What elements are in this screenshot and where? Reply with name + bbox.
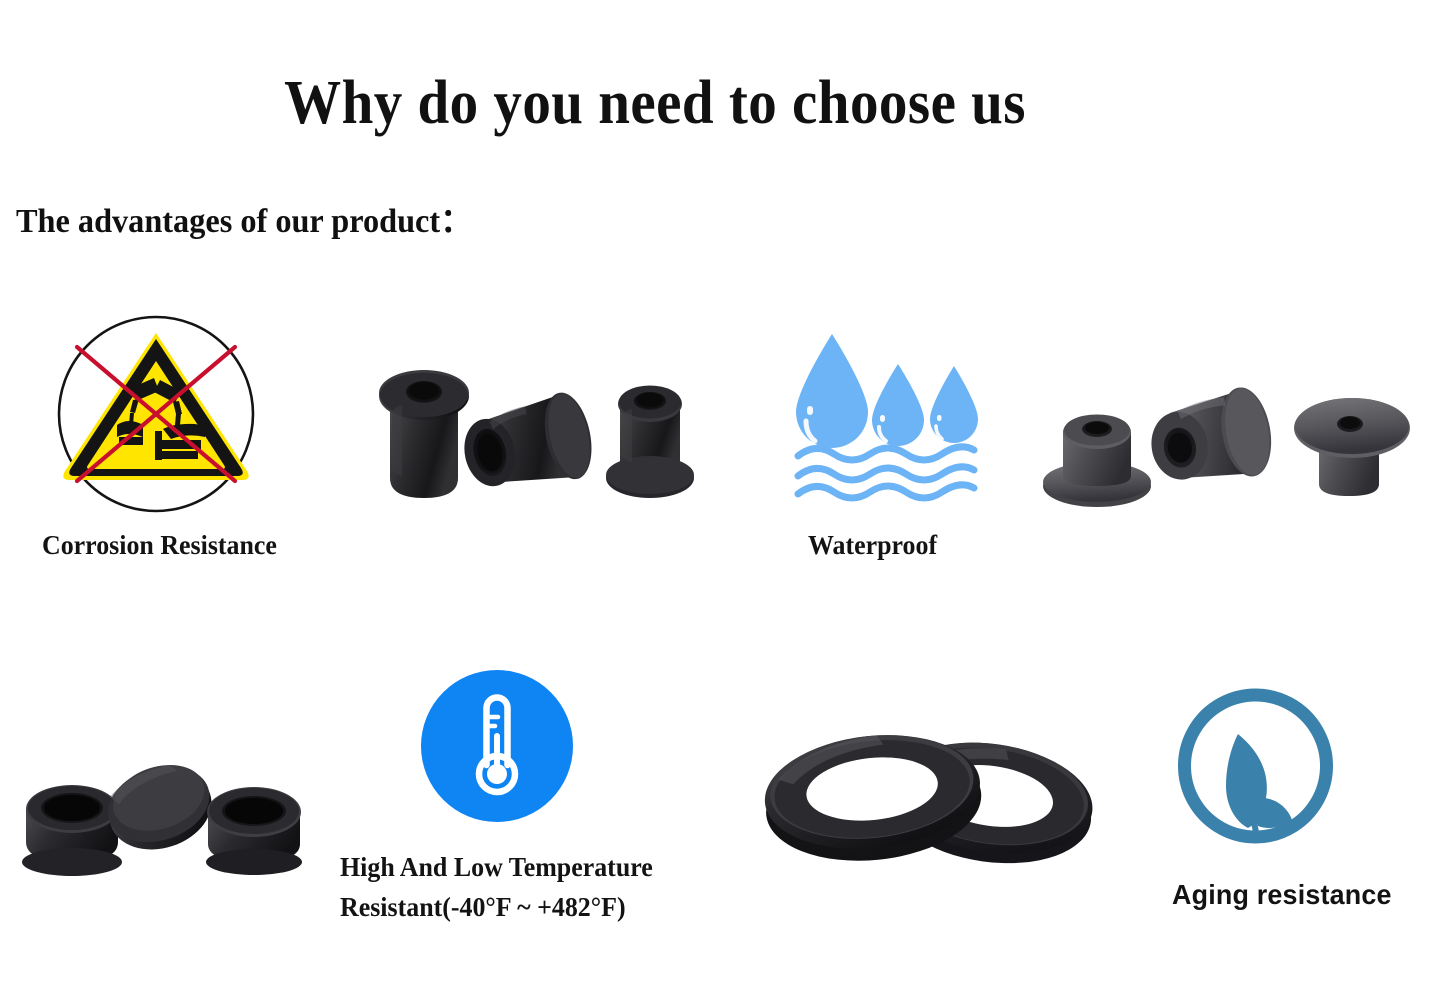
caption-corrosion-resistance: Corrosion Resistance bbox=[42, 526, 277, 566]
product-photo-flanged-grommets bbox=[362, 352, 694, 510]
thermometer-icon bbox=[418, 667, 576, 825]
product-photo-rubber-rings bbox=[742, 712, 1102, 872]
caption-aging-resistance: Aging resistance bbox=[1172, 874, 1392, 915]
caption-temperature-line-2: Resistant(-40°F ~ +482°F) bbox=[340, 888, 626, 928]
product-photo-flanged-plugs bbox=[1034, 382, 1412, 512]
section-subtitle: The advantages of our product： bbox=[16, 205, 472, 239]
caption-temperature-line-1: High And Low Temperature bbox=[340, 848, 653, 888]
page-title: Why do you need to choose us bbox=[52, 72, 1257, 134]
product-photo-rubber-bushings bbox=[12, 752, 312, 882]
leaf-flame-circle-icon bbox=[1176, 686, 1336, 846]
caption-waterproof: Waterproof bbox=[808, 526, 937, 566]
advantages-infographic: Why do you need to choose us The advanta… bbox=[0, 0, 1445, 983]
water-droplets-waves-icon bbox=[784, 322, 996, 507]
corrosion-hazard-crossed-out-icon bbox=[55, 313, 257, 515]
